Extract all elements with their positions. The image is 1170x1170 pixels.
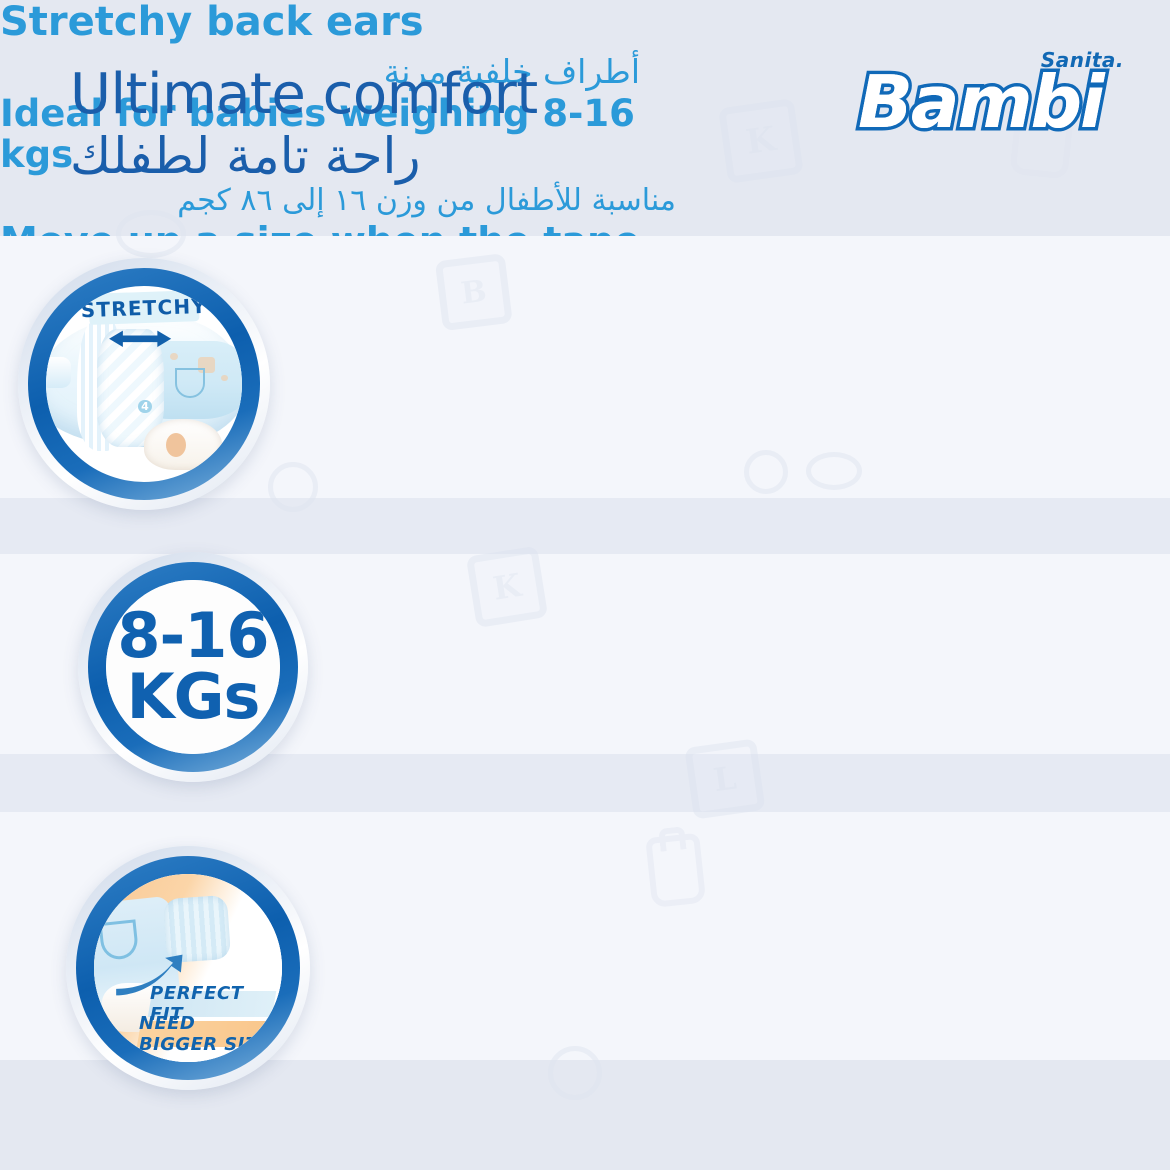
brand-logo: Sanita. Bambi Bambi (848, 46, 1128, 156)
watermark-bottle-icon-2 (644, 826, 693, 902)
watermark-ring-3 (548, 1046, 602, 1100)
watermark-ring-1 (268, 462, 318, 512)
feature-title-ar-2: مناسبة للأطفال من وزن ١٦ إلى ٨٦ كجم (0, 182, 676, 220)
weight-badge-line1: 8-16 (117, 606, 268, 667)
weight-badge-line2: KGs (127, 666, 260, 728)
weight-badge: 8-16 KGs (78, 552, 308, 782)
watermark-ring-4 (116, 210, 186, 258)
diaper-size-number: 4 (138, 400, 152, 414)
diaper-photo-perfect-fit: PERFECT FIT NEED BIGGER SIZE (94, 874, 282, 1062)
poster-canvas: K B K L Ultimate comfort راحة تامة لطفلك… (0, 0, 1170, 1170)
feature-title-en-1: Stretchy back ears (0, 0, 640, 45)
page-title-ar: راحة تامة لطفلك (70, 125, 770, 188)
page-title: Ultimate comfort راحة تامة لطفلك (70, 66, 770, 188)
feature-image-perfect-fit: PERFECT FIT NEED BIGGER SIZE (66, 846, 310, 1090)
band-divider-1 (0, 498, 1170, 554)
watermark-ring-2 (744, 450, 788, 494)
feature-image-stretchy: 4 STRETCHY (18, 258, 270, 510)
stretch-double-arrow-icon (97, 329, 183, 349)
stretchy-callout-label: STRETCHY (80, 293, 207, 321)
diaper-photo-stretchy: 4 STRETCHY (46, 286, 242, 482)
watermark-ring-5 (806, 452, 862, 490)
need-bigger-size-label: NEED BIGGER SIZE (139, 1013, 274, 1055)
need-bigger-size-band: NEED BIGGER SIZE (137, 1021, 277, 1047)
brand-logo-fill: Bambi (858, 66, 1103, 138)
weight-badge-content: 8-16 KGs (106, 580, 280, 754)
page-title-en: Ultimate comfort (70, 66, 770, 123)
stretchy-callout: STRETCHY (89, 290, 200, 325)
